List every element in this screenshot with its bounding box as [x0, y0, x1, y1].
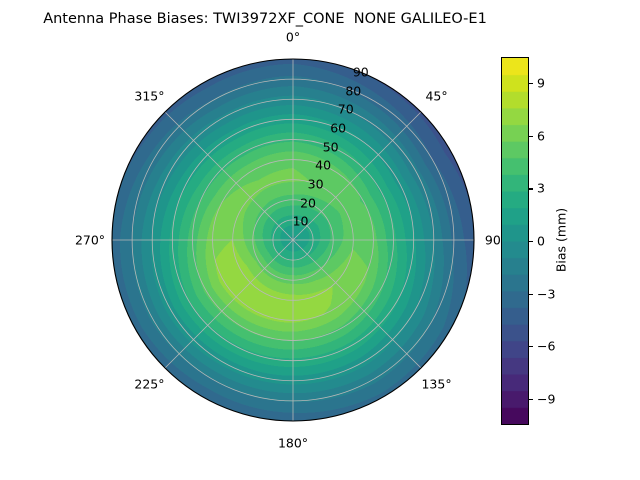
colorbar-tick-mark: [529, 83, 533, 84]
r-tick-20: 20: [300, 195, 316, 210]
colorbar-tick-label: −3: [537, 286, 555, 301]
theta-tick-315: 315°: [134, 89, 164, 104]
figure-canvas: Antenna Phase Biases: TWI3972XF_CONE NON…: [0, 0, 640, 480]
theta-tick-135: 135°: [421, 376, 451, 391]
colorbar-tick-mark: [529, 294, 533, 295]
colorbar-tick-label: −6: [537, 339, 555, 354]
colorbar-tick-mark: [529, 399, 533, 400]
colorbar-tick-label: 3: [537, 181, 545, 196]
colorbar-tick-mark: [529, 241, 533, 242]
r-tick-90: 90: [353, 65, 369, 80]
r-tick-80: 80: [345, 83, 361, 98]
colorbar-tick-mark: [529, 136, 533, 137]
colorbar-tick-mark: [529, 346, 533, 347]
colorbar-tick-label: 9: [537, 76, 545, 91]
r-tick-70: 70: [338, 102, 354, 117]
theta-tick-0: 0°: [286, 30, 300, 45]
r-tick-50: 50: [323, 139, 339, 154]
r-tick-40: 40: [315, 158, 331, 173]
theta-tick-180: 180°: [278, 436, 308, 451]
theta-tick-270: 270°: [75, 233, 105, 248]
polar-plot: 0°45°90°135°180°225°270°315° 10203040506…: [110, 57, 476, 423]
colorbar-tick-label: 6: [537, 128, 545, 143]
page-title: Antenna Phase Biases: TWI3972XF_CONE NON…: [0, 10, 530, 28]
r-tick-10: 10: [293, 214, 309, 229]
colorbar-tick-mark: [529, 188, 533, 189]
theta-tick-45: 45°: [425, 89, 447, 104]
r-tick-60: 60: [330, 121, 346, 136]
r-tick-30: 30: [308, 177, 324, 192]
theta-tick-225: 225°: [134, 376, 164, 391]
colorbar: −9−6−30369: [501, 57, 529, 425]
colorbar-gradient: [501, 57, 529, 425]
colorbar-tick-label: −9: [537, 391, 555, 406]
colorbar-axis-label: Bias (mm): [554, 208, 569, 272]
polar-contour-canvas: [110, 57, 476, 423]
colorbar-tick-label: 0: [537, 234, 545, 249]
